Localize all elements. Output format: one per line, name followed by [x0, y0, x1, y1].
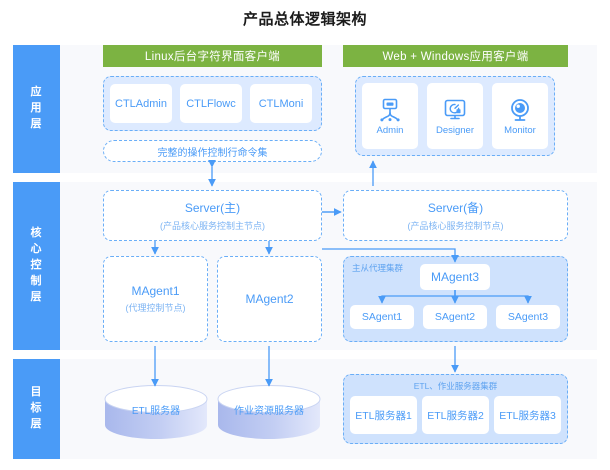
layer-label-char: 核: [31, 226, 43, 242]
cylinder-etl-server[interactable]: ETL服务器: [103, 385, 209, 441]
node-label: SAgent2: [435, 311, 475, 323]
node-label: ETL服务器1: [355, 408, 412, 423]
layer-label-char: 层: [31, 417, 43, 433]
node-subtitle: (代理控制节点): [126, 301, 186, 314]
node-sagent1[interactable]: SAgent1: [350, 305, 414, 329]
node-monitor[interactable]: Monitor: [492, 83, 548, 149]
node-label: SAgent3: [508, 311, 548, 323]
node-label: CTLMoni: [259, 98, 304, 110]
node-etl-server-3[interactable]: ETL服务器3: [494, 396, 561, 434]
layer-label-char: 层: [31, 117, 43, 133]
etl-cluster-caption: ETL、作业服务器集群: [343, 380, 568, 392]
node-title: Server(备): [428, 199, 483, 216]
layer-label-target: 目 标 层: [13, 359, 60, 459]
node-label: ETL服务器3: [499, 408, 556, 423]
layer-label-char: 应: [31, 85, 43, 101]
node-magent3[interactable]: MAgent3: [420, 264, 490, 290]
node-magent1[interactable]: MAgent1 (代理控制节点): [103, 256, 208, 342]
node-etl-server-1[interactable]: ETL服务器1: [350, 396, 417, 434]
node-label: SAgent1: [362, 311, 402, 323]
node-subtitle: (产品核心服务控制主节点): [160, 219, 265, 232]
layer-label-core-control: 核 心 控 制 层: [13, 182, 60, 350]
layer-label-char: 控: [31, 258, 43, 274]
monitor-camera-icon: [507, 97, 533, 123]
node-ctlmoni[interactable]: CTLMoni: [250, 84, 312, 123]
architecture-diagram: 产品总体逻辑架构 应 用 层 核 心 控 制 层 目 标 层 Linux后台字符…: [0, 0, 610, 470]
layer-label-char: 心: [31, 242, 43, 258]
node-sagent3[interactable]: SAgent3: [496, 305, 560, 329]
node-magent2[interactable]: MAgent2: [217, 256, 322, 342]
node-designer[interactable]: Designer: [427, 83, 483, 149]
node-label: MAgent3: [431, 270, 479, 284]
page-title: 产品总体逻辑架构: [0, 8, 610, 29]
cylinder-label: ETL服务器: [103, 402, 209, 417]
node-server-standby[interactable]: Server(备) (产品核心服务控制节点): [343, 190, 568, 241]
node-label: CTLFlowc: [186, 98, 236, 110]
node-title: Server(主): [185, 199, 240, 216]
node-ctlflowc[interactable]: CTLFlowc: [180, 84, 242, 123]
node-admin[interactable]: Admin: [362, 83, 418, 149]
cylinder-label: 作业资源服务器: [216, 402, 322, 417]
node-title: MAgent2: [245, 292, 293, 306]
node-sagent2[interactable]: SAgent2: [423, 305, 487, 329]
agent-cluster-caption: 主从代理集群: [352, 262, 403, 274]
layer-label-application: 应 用 层: [13, 45, 60, 173]
header-linux-cli-client: Linux后台字符界面客户端: [103, 45, 322, 67]
node-etl-server-2[interactable]: ETL服务器2: [422, 396, 489, 434]
node-subtitle: (产品核心服务控制节点): [408, 219, 504, 232]
node-server-primary[interactable]: Server(主) (产品核心服务控制主节点): [103, 190, 322, 241]
node-label: Monitor: [504, 125, 536, 136]
node-label: Designer: [436, 125, 474, 136]
layer-label-char: 用: [31, 101, 43, 117]
node-ctladmin[interactable]: CTLAdmin: [110, 84, 172, 123]
layer-label-char: 标: [31, 401, 43, 417]
node-title: MAgent1: [131, 284, 179, 298]
node-label: ETL服务器2: [427, 408, 484, 423]
layer-label-char: 制: [31, 274, 43, 290]
admin-console-icon: [377, 97, 403, 123]
layer-label-char: 层: [31, 290, 43, 306]
designer-monitor-icon: [442, 97, 468, 123]
node-label: CTLAdmin: [115, 98, 167, 110]
layer-label-char: 目: [31, 385, 43, 401]
node-label: Admin: [377, 125, 404, 136]
node-command-set[interactable]: 完整的操作控制行命令集: [103, 140, 322, 162]
cylinder-job-resource-server[interactable]: 作业资源服务器: [216, 385, 322, 441]
header-web-windows-client: Web + Windows应用客户端: [343, 45, 568, 67]
